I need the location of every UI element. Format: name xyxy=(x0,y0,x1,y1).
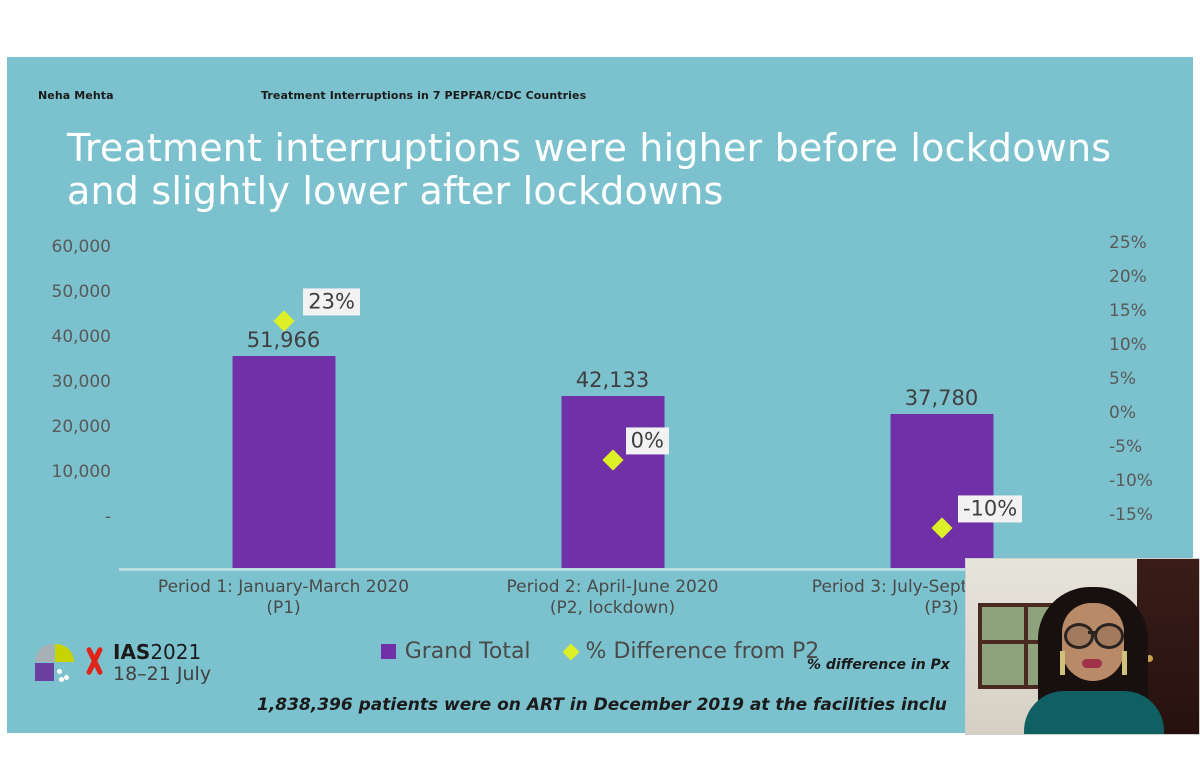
category-axis-labels: Period 1: January-March 2020 (P1) Period… xyxy=(119,577,1107,633)
left-axis-tick: 50,000 xyxy=(52,282,111,302)
left-axis-tick: - xyxy=(105,507,111,527)
glasses-bridge xyxy=(1088,631,1096,634)
left-axis-tick: 30,000 xyxy=(52,372,111,392)
right-axis-tick: 0% xyxy=(1109,403,1136,423)
combo-chart: 60,000 50,000 40,000 30,000 20,000 10,00… xyxy=(7,247,1193,597)
presenter-video-overlay[interactable] xyxy=(965,558,1200,735)
plot-area: 51,966 23% 42,133 0% 37,780 -10% xyxy=(119,247,1107,573)
bar-value-label: 37,780 xyxy=(905,386,978,410)
category-label-period-2: Period 2: April-June 2020 (P2, lockdown) xyxy=(448,577,777,620)
slide-topic: Treatment Interruptions in 7 PEPFAR/CDC … xyxy=(261,89,586,102)
left-value-axis: 60,000 50,000 40,000 30,000 20,000 10,00… xyxy=(25,247,111,517)
diff-value-label: -10% xyxy=(958,495,1022,522)
right-axis-tick: -10% xyxy=(1109,471,1153,491)
bar-group-period-1: 51,966 23% xyxy=(119,247,448,568)
left-axis-tick: 40,000 xyxy=(52,327,111,347)
legend-label: % Difference from P2 xyxy=(586,639,820,664)
right-axis-tick: -15% xyxy=(1109,505,1153,525)
category-label-line2: (P1) xyxy=(119,598,448,619)
presenter-lips xyxy=(1082,659,1102,668)
square-marker-icon xyxy=(381,644,396,659)
category-label-line2: (P2, lockdown) xyxy=(448,598,777,619)
slide-title: Treatment interruptions were higher befo… xyxy=(67,127,1167,212)
right-axis-tick: 5% xyxy=(1109,369,1136,389)
red-ribbon-icon xyxy=(81,644,107,682)
right-axis-tick: 10% xyxy=(1109,335,1147,355)
category-label-line1: Period 1: January-March 2020 xyxy=(119,577,448,598)
bar-grand-total[interactable] xyxy=(561,396,664,568)
right-axis-tick: 25% xyxy=(1109,233,1147,253)
slide-author: Neha Mehta xyxy=(38,89,114,102)
bar-grand-total[interactable] xyxy=(890,414,993,568)
category-label-period-1: Period 1: January-March 2020 (P1) xyxy=(119,577,448,620)
right-percent-axis: 25% 20% 15% 10% 5% 0% -5% -10% -15% xyxy=(1109,247,1189,517)
left-axis-tick: 20,000 xyxy=(52,417,111,437)
left-axis-tick: 10,000 xyxy=(52,462,111,482)
glasses-right-lens xyxy=(1094,623,1124,649)
right-axis-tick: 15% xyxy=(1109,301,1147,321)
right-axis-tick: 20% xyxy=(1109,267,1147,287)
ias-year: 2021 xyxy=(150,640,201,664)
diamond-marker-icon xyxy=(562,643,579,660)
glasses-left-lens xyxy=(1064,623,1094,649)
category-axis-line xyxy=(119,568,1107,571)
bar-group-period-2: 42,133 0% xyxy=(448,247,777,568)
ias-logo: IAS2021 18–21 July xyxy=(35,642,211,684)
ias-emblem-icon xyxy=(35,644,75,682)
bar-group-period-3: 37,780 -10% xyxy=(777,247,1106,568)
bar-grand-total[interactable] xyxy=(232,356,335,568)
ias-dates: 18–21 July xyxy=(113,664,211,685)
legend-item-percent-difference[interactable]: % Difference from P2 xyxy=(565,639,820,664)
category-label-line1: Period 2: April-June 2020 xyxy=(448,577,777,598)
diff-value-label: 23% xyxy=(303,288,360,315)
earring-right xyxy=(1122,651,1127,675)
legend-label: Grand Total xyxy=(405,639,531,664)
left-axis-tick: 60,000 xyxy=(52,237,111,257)
ias-name: IAS xyxy=(113,640,150,664)
earring-left xyxy=(1060,651,1065,675)
footnote-percent-difference: % difference in Px xyxy=(807,657,950,673)
diff-value-label: 0% xyxy=(626,427,669,454)
legend-item-grand-total[interactable]: Grand Total xyxy=(381,639,531,664)
presenter-torso xyxy=(1024,691,1164,735)
footnote-patients-on-art: 1,838,396 patients were on ART in Decemb… xyxy=(257,695,947,715)
right-axis-tick: -5% xyxy=(1109,437,1142,457)
ias-logo-text: IAS2021 18–21 July xyxy=(113,642,211,684)
bar-value-label: 42,133 xyxy=(576,368,649,392)
